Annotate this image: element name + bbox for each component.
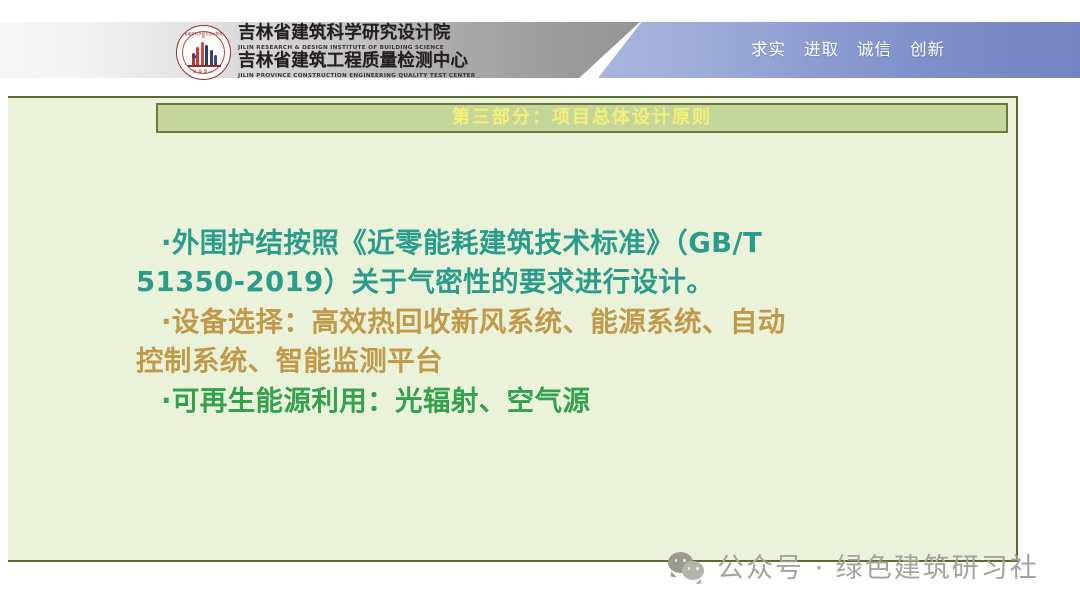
watermark-group: 公众号 · 绿色建筑研习社 bbox=[668, 552, 1039, 584]
seal-top-text: 吉林省建筑科学研究设计院有限公司 bbox=[177, 33, 230, 40]
seal-bottom-text: 质量第一 bbox=[177, 70, 230, 74]
organization-logo-block: 吉林省建筑科学研究设计院有限公司 ★ 质量第一 吉林省建筑科学研究设计院 JIL… bbox=[176, 23, 471, 81]
org-line1-cn: 吉林省建筑科学研究设计院 bbox=[238, 24, 471, 44]
org-line2-en: JILIN PROVINCE CONSTRUCTION ENGINEERING … bbox=[238, 72, 475, 80]
slide-body-text: ·外围护结按照《近零能耗建筑技术标准》（GB/T 51350-2019）关于气密… bbox=[136, 224, 996, 422]
section-title-text: 第三部分：项目总体设计原则 bbox=[452, 109, 712, 127]
org-line1-en: JILIN RESEARCH & DESIGN INSTITUTE OF BUI… bbox=[238, 44, 475, 52]
slide-content-frame: 第三部分：项目总体设计原则 ·外围护结按照《近零能耗建筑技术标准》（GB/T 5… bbox=[8, 96, 1018, 562]
organization-name-block: 吉林省建筑科学研究设计院 JILIN RESEARCH & DESIGN INS… bbox=[238, 24, 471, 80]
header-slogan-group: 求实 进取 诚信 创新 bbox=[598, 22, 1080, 78]
seal-star-icon: ★ bbox=[191, 53, 198, 61]
bullet-item-3: ·可再生能源利用：光辐射、空气源 bbox=[136, 382, 996, 421]
section-title-bar: 第三部分：项目总体设计原则 bbox=[156, 103, 1008, 133]
company-seal-icon: 吉林省建筑科学研究设计院有限公司 ★ 质量第一 bbox=[176, 25, 231, 80]
slogan-word-1: 求实 bbox=[751, 42, 786, 59]
seal-base-line bbox=[188, 65, 221, 67]
org-line2-cn: 吉林省建筑工程质量检测中心 bbox=[238, 52, 471, 72]
bullet-item-1: ·外围护结按照《近零能耗建筑技术标准》（GB/T 51350-2019）关于气密… bbox=[136, 224, 996, 302]
wechat-icon bbox=[668, 552, 708, 584]
slogan-word-3: 诚信 bbox=[857, 42, 892, 59]
watermark-text: 公众号 · 绿色建筑研习社 bbox=[717, 555, 1039, 582]
slide-root: 求实 进取 诚信 创新 吉林省建筑科学研究设计院有限公司 ★ 质量第一 吉林省建… bbox=[0, 0, 1080, 608]
slide-header: 求实 进取 诚信 创新 吉林省建筑科学研究设计院有限公司 ★ 质量第一 吉林省建… bbox=[0, 0, 1080, 94]
bullet-item-2: ·设备选择：高效热回收新风系统、能源系统、自动 控制系统、智能监测平台 bbox=[136, 303, 996, 381]
slogan-word-4: 创新 bbox=[910, 42, 945, 59]
slogan-word-2: 进取 bbox=[804, 42, 839, 59]
